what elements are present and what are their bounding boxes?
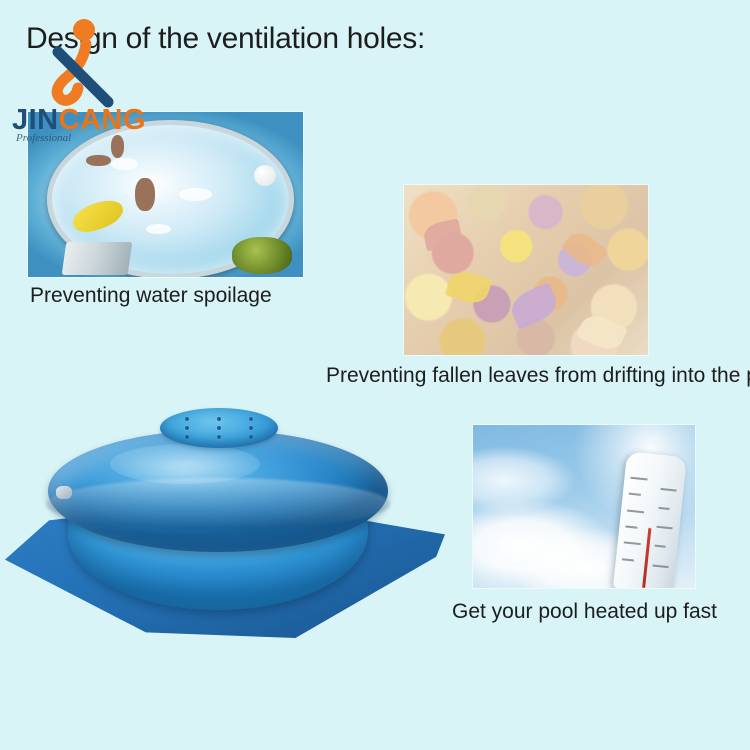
ventilation-hole-icon [217,417,221,421]
thermometer-tick [627,509,644,513]
ventilation-holes-detail [160,408,278,448]
vent-hole-group [184,417,190,439]
swimmer-figure [86,155,111,167]
leaf [507,282,562,330]
ventilation-hole-icon [249,435,253,439]
fallen-autumn-leaves-photo [404,185,648,355]
caption-water-spoilage: Preventing water spoilage [30,282,272,310]
caption-fallen-leaves: Preventing fallen leaves from drifting i… [326,362,750,390]
brand-tagline: Professional [16,132,71,144]
thermometer-tick [658,507,669,510]
thermometer-tick [654,545,665,548]
ventilation-hole-icon [249,417,253,421]
thermometer-tick [621,558,633,561]
thermometer-tick [656,526,672,530]
vent-hole-group [216,417,222,439]
thermometer-tick [630,477,647,481]
thermometer [613,452,687,588]
leaf [561,227,608,273]
leaf [576,309,628,354]
pool-drain-valve [56,486,72,499]
running-person-icon [34,18,126,110]
inflatable-pool-with-cover [0,398,455,650]
brand-logo: JINCANG Professional [6,18,156,146]
ventilation-hole-icon [185,435,189,439]
promo-image-canvas: Design of the ventilation holes: JINCANG… [0,0,750,750]
caption-heated-fast: Get your pool heated up fast [452,598,717,626]
ventilation-hole-icon [217,435,221,439]
ventilation-hole-icon [217,426,221,430]
thermometer-tick [628,493,640,496]
brand-word-cang: CANG [59,104,146,136]
pool-inflatable-ring [46,478,390,530]
thermometer-tick [625,526,637,529]
pool-ladder [61,242,132,275]
swimmer-figure [135,178,154,211]
thermometer-tick [660,488,676,492]
leaf [444,268,492,308]
ventilation-hole-icon [185,426,189,430]
thermometer-mercury [642,463,658,588]
water-sparkle [111,158,139,170]
vent-hole-group [248,417,254,439]
thermometer-sky-photo [473,425,695,588]
garden-bush [232,237,293,273]
thermometer-tick [623,542,640,546]
leaf [421,219,462,252]
ventilation-hole-icon [249,426,253,430]
thermometer-tick [652,564,668,568]
cover-highlight [110,444,260,484]
ventilation-hole-icon [185,417,189,421]
beach-ball [254,165,276,186]
